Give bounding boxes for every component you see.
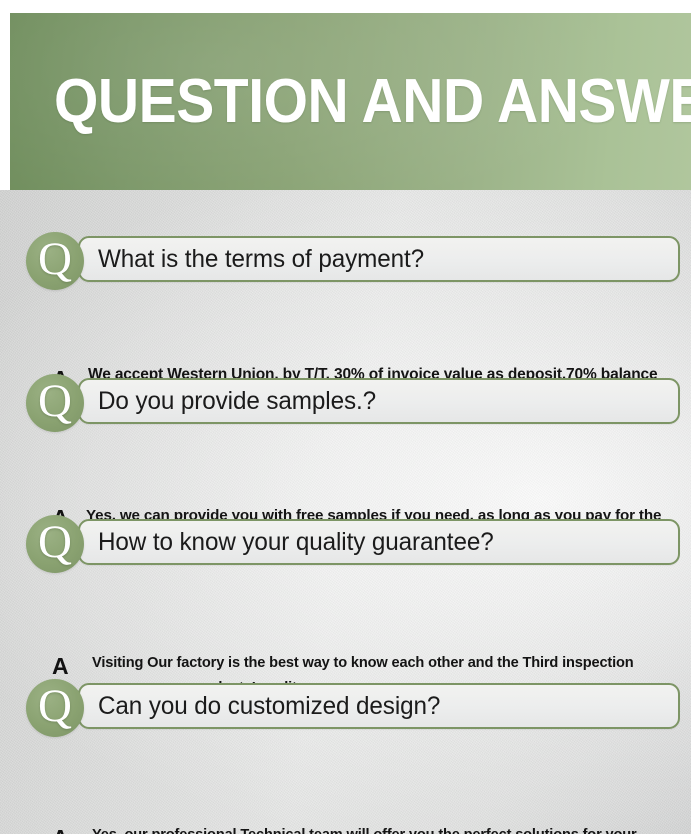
question-marker-badge: Q: [26, 679, 84, 737]
question-row[interactable]: Q Can you do customized design?: [0, 679, 691, 737]
answer-line: Yes, our professional Technical team wil…: [92, 827, 637, 834]
question-row[interactable]: Q How to know your quality guarantee?: [0, 515, 691, 573]
question-row[interactable]: Q What is the terms of payment?: [0, 232, 691, 290]
answer-line: Visiting Our factory is the best way to …: [92, 655, 634, 671]
qa-block: Q What is the terms of payment? A We acc…: [0, 232, 691, 356]
question-marker-letter: Q: [38, 236, 72, 283]
qa-block: Q Do you provide samples.? A Yes, we can…: [0, 374, 691, 498]
header-banner: QUESTION AND ANSWER: [10, 13, 691, 190]
question-box[interactable]: Do you provide samples.?: [78, 378, 680, 424]
qa-page: QUESTION AND ANSWER Q What is the terms …: [0, 0, 691, 834]
question-text: How to know your quality guarantee?: [98, 530, 494, 555]
question-box[interactable]: Can you do customized design?: [78, 683, 680, 729]
qa-block: Q How to know your quality guarantee? A …: [0, 515, 691, 639]
question-marker-letter: Q: [38, 519, 72, 566]
question-text: What is the terms of payment?: [98, 247, 424, 272]
question-text: Can you do customized design?: [98, 694, 440, 719]
question-marker-badge: Q: [26, 374, 84, 432]
question-row[interactable]: Q Do you provide samples.?: [0, 374, 691, 432]
question-box[interactable]: What is the terms of payment?: [78, 236, 680, 282]
answer-row: A We accept Western Union, by T/T, 30% o…: [0, 290, 691, 356]
answer-marker-letter: A: [52, 825, 69, 834]
question-marker-badge: Q: [26, 515, 84, 573]
page-title: QUESTION AND ANSWER: [54, 71, 691, 133]
question-marker-letter: Q: [38, 378, 72, 425]
answer-row: A Yes, our professional Technical team w…: [0, 737, 691, 803]
question-box[interactable]: How to know your quality guarantee?: [78, 519, 680, 565]
question-marker-badge: Q: [26, 232, 84, 290]
answer-row: A Visiting Our factory is the best way t…: [0, 573, 691, 639]
question-marker-letter: Q: [38, 683, 72, 730]
answer-row: A Yes, we can provide you with free samp…: [0, 432, 691, 498]
qa-block: Q Can you do customized design? A Yes, o…: [0, 679, 691, 803]
answer-marker-letter: A: [52, 653, 69, 679]
question-text: Do you provide samples.?: [98, 389, 376, 414]
